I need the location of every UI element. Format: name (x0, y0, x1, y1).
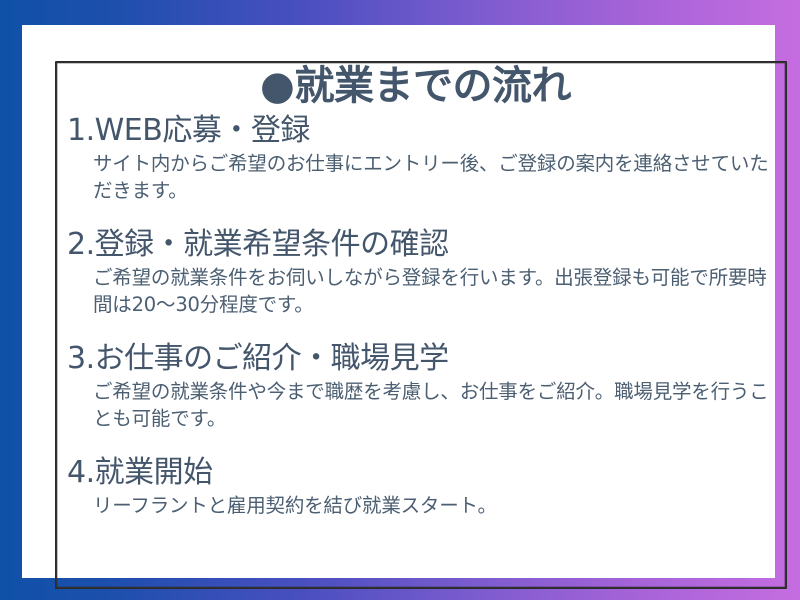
step-item-4: 4.就業開始 リーフラントと雇用契約を結び就業スタート。 (67, 455, 782, 519)
step-heading-3: 3.お仕事のご紹介・職場見学 (67, 341, 782, 378)
slide-background: ●就業までの流れ 1.WEB応募・登録 サイト内からご希望のお仕事にエントリー後… (0, 0, 800, 600)
step-body-3: ご希望の就業条件や今まで職歴を考慮し、お仕事をご紹介。職場見学を行うことも可能で… (93, 378, 782, 433)
step-heading-4: 4.就業開始 (67, 455, 782, 492)
page-title: ●就業までの流れ (67, 65, 782, 107)
step-heading-2: 2.登録・就業希望条件の確認 (67, 227, 782, 264)
slide-content: ●就業までの流れ 1.WEB応募・登録 サイト内からご希望のお仕事にエントリー後… (67, 65, 782, 585)
step-heading-1: 1.WEB応募・登録 (67, 113, 782, 150)
step-item-3: 3.お仕事のご紹介・職場見学 ご希望の就業条件や今まで職歴を考慮し、お仕事をご紹… (67, 341, 782, 433)
step-body-4: リーフラントと雇用契約を結び就業スタート。 (93, 492, 782, 520)
step-body-2: ご希望の就業条件をお伺いしながら登録を行います。出張登録も可能で所要時間は20〜… (93, 264, 782, 319)
slide-card: ●就業までの流れ 1.WEB応募・登録 サイト内からご希望のお仕事にエントリー後… (22, 25, 775, 578)
step-body-1: サイト内からご希望のお仕事にエントリー後、ご登録の案内を連絡させていただきます。 (93, 150, 782, 205)
step-item-2: 2.登録・就業希望条件の確認 ご希望の就業条件をお伺いしながら登録を行います。出… (67, 227, 782, 319)
step-item-1: 1.WEB応募・登録 サイト内からご希望のお仕事にエントリー後、ご登録の案内を連… (67, 113, 782, 205)
